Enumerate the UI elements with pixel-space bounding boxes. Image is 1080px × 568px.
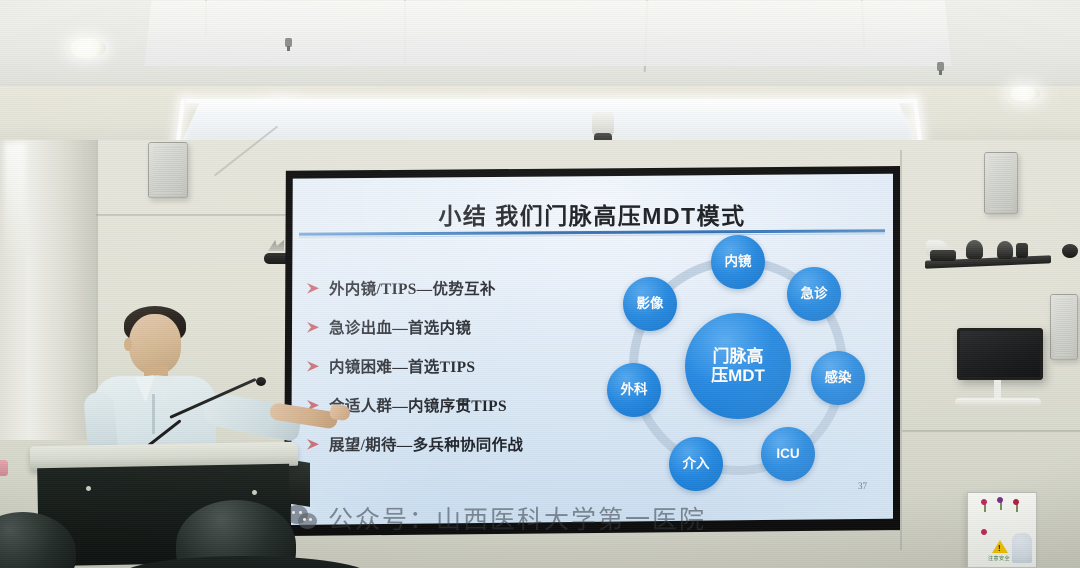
presenter-placket	[152, 394, 155, 434]
microphone-capsule-icon	[256, 377, 266, 386]
av-receiver	[930, 250, 956, 261]
list-item: 展望/期待—多兵种协同作战	[307, 433, 577, 455]
wall-speaker-icon	[148, 142, 188, 198]
arrow-bullet-icon	[307, 283, 320, 294]
podium-item	[0, 460, 8, 476]
center-label-line2: 压MDT	[711, 366, 765, 385]
diagram-node-upper-right: 急诊	[787, 267, 841, 321]
presenter	[74, 296, 304, 496]
presentation-slide[interactable]: 小结 我们门脉高压MDT模式 外内镜/TIPS—优势互补 急诊出血—首选内镜	[291, 173, 893, 525]
column-highlight	[4, 142, 26, 262]
warning-triangle-icon	[992, 540, 1008, 553]
node-label: 外科	[621, 382, 648, 397]
arrow-bullet-icon	[307, 361, 320, 372]
diagram-center-node: 门脉高 压MDT	[685, 313, 791, 419]
list-item-label: 外内镜/TIPS—优势互补	[329, 277, 496, 299]
diagram-node-right: 感染	[811, 351, 865, 405]
wall-seam	[900, 150, 902, 550]
list-item-label: 内镜困难—首选TIPS	[329, 355, 475, 377]
presenter-head	[129, 314, 181, 374]
panel-figure	[1012, 533, 1032, 563]
list-item: 内镜困难—首选TIPS	[307, 355, 577, 377]
bullet-list: 外内镜/TIPS—优势互补 急诊出血—首选内镜 内镜困难—首选TIPS 合适人群…	[307, 277, 577, 472]
node-label: 内镜	[725, 254, 752, 269]
node-label: 介入	[683, 456, 710, 471]
diagram-node-top: 内镜	[711, 235, 765, 289]
node-label: 影像	[637, 296, 664, 311]
camera-rig	[997, 241, 1013, 259]
panel-caption: 注意安全	[988, 555, 1010, 562]
ceiling-recess	[145, 0, 952, 66]
list-item-label: 合适人群—内镜序贯TIPS	[329, 394, 507, 416]
diagram-node-upper-left: 影像	[623, 277, 677, 331]
arrow-bullet-icon	[307, 439, 320, 450]
slide-number: 37	[858, 481, 867, 491]
wall-seam	[902, 430, 1080, 432]
sprinkler-head	[285, 38, 292, 47]
slide-title: 小结 我们门脉高压MDT模式	[291, 197, 893, 231]
wall-monitor-screen	[960, 331, 1040, 377]
list-item-label: 展望/期待—多兵种协同作战	[329, 433, 523, 455]
diagram-node-lower-right: ICU	[761, 427, 815, 481]
presenter-ear	[124, 338, 132, 351]
lecture-room-photo: 注意安全 小结 我们门脉高压MDT模式 外内镜/TIPS—优势互补 急诊出血—首…	[0, 0, 1080, 568]
camera-rig	[966, 240, 983, 259]
list-item: 外内镜/TIPS—优势互补	[307, 277, 577, 299]
monitor-arm-bar	[955, 398, 1041, 406]
podium-fastener	[252, 490, 257, 495]
diagram-node-left: 外科	[607, 363, 661, 417]
camera-rig	[1016, 243, 1028, 258]
list-item: 急诊出血—首选内镜	[307, 316, 577, 338]
wall-info-panel: 注意安全	[967, 492, 1037, 568]
wall-speaker-icon	[984, 152, 1018, 214]
sprinkler-head	[937, 62, 944, 71]
ceiling-downlight	[68, 38, 106, 58]
list-item-label: 急诊出血—首选内镜	[329, 316, 471, 338]
dome-camera-icon	[1062, 244, 1078, 258]
wall-speaker-icon	[1050, 294, 1078, 360]
led-strip	[186, 99, 914, 103]
arrow-bullet-icon	[307, 322, 320, 333]
ceiling-downlight	[1008, 86, 1040, 101]
podium-fastener	[86, 486, 91, 491]
diagram-node-lower-left: 介入	[669, 437, 723, 491]
node-label: 感染	[825, 370, 852, 385]
mdt-circle-diagram: 门脉高 压MDT 内镜 急诊 感染 ICU 介入 外科 影像	[585, 241, 885, 509]
node-label: 急诊	[801, 286, 828, 301]
node-label: ICU	[776, 446, 799, 461]
wall-monitor[interactable]	[957, 328, 1043, 380]
center-label-line1: 门脉高	[712, 347, 763, 366]
